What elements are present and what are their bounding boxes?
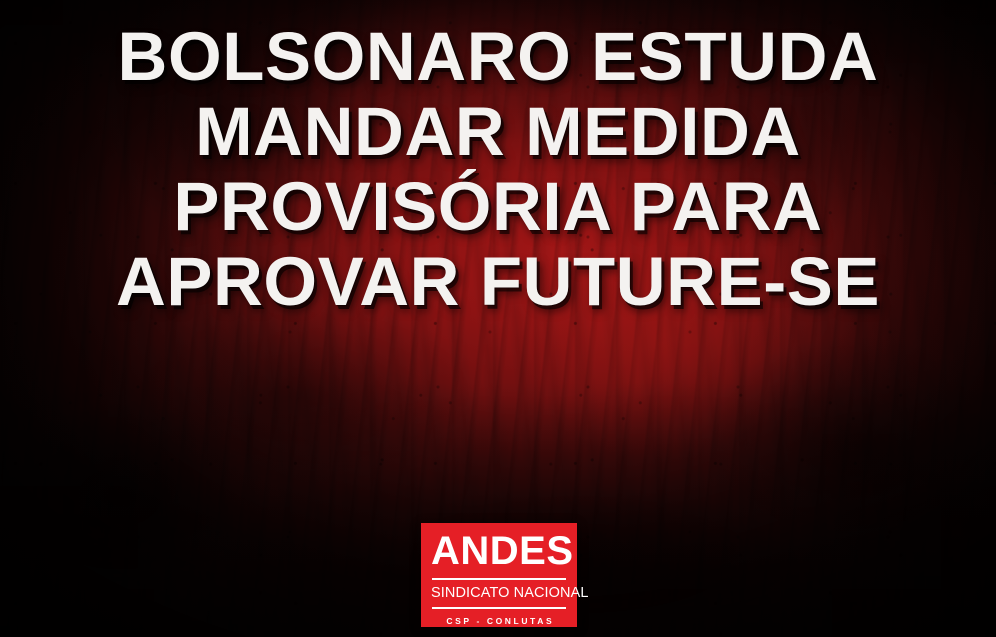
headline-line-2: MANDAR MEDIDA	[34, 94, 962, 169]
headline-line-3: PROVISÓRIA PARA	[34, 169, 962, 244]
poster-canvas: BOLSONARO ESTUDA MANDAR MEDIDA PROVISÓRI…	[0, 0, 996, 637]
logo-divider-bottom	[432, 607, 566, 609]
andes-logo-affiliation: CSP - CONLUTAS	[431, 616, 567, 626]
logo-divider-top	[432, 578, 566, 580]
andes-logo-wordmark: ANDES	[431, 531, 567, 571]
headline-block: BOLSONARO ESTUDA MANDAR MEDIDA PROVISÓRI…	[0, 19, 996, 319]
headline-line-1: BOLSONARO ESTUDA	[34, 19, 962, 94]
andes-logo-subtitle: SINDICATO NACIONAL	[431, 586, 567, 601]
headline-line-4: APROVAR FUTURE-SE	[34, 244, 962, 319]
andes-logo: ANDES SINDICATO NACIONAL CSP - CONLUTAS	[421, 523, 577, 627]
